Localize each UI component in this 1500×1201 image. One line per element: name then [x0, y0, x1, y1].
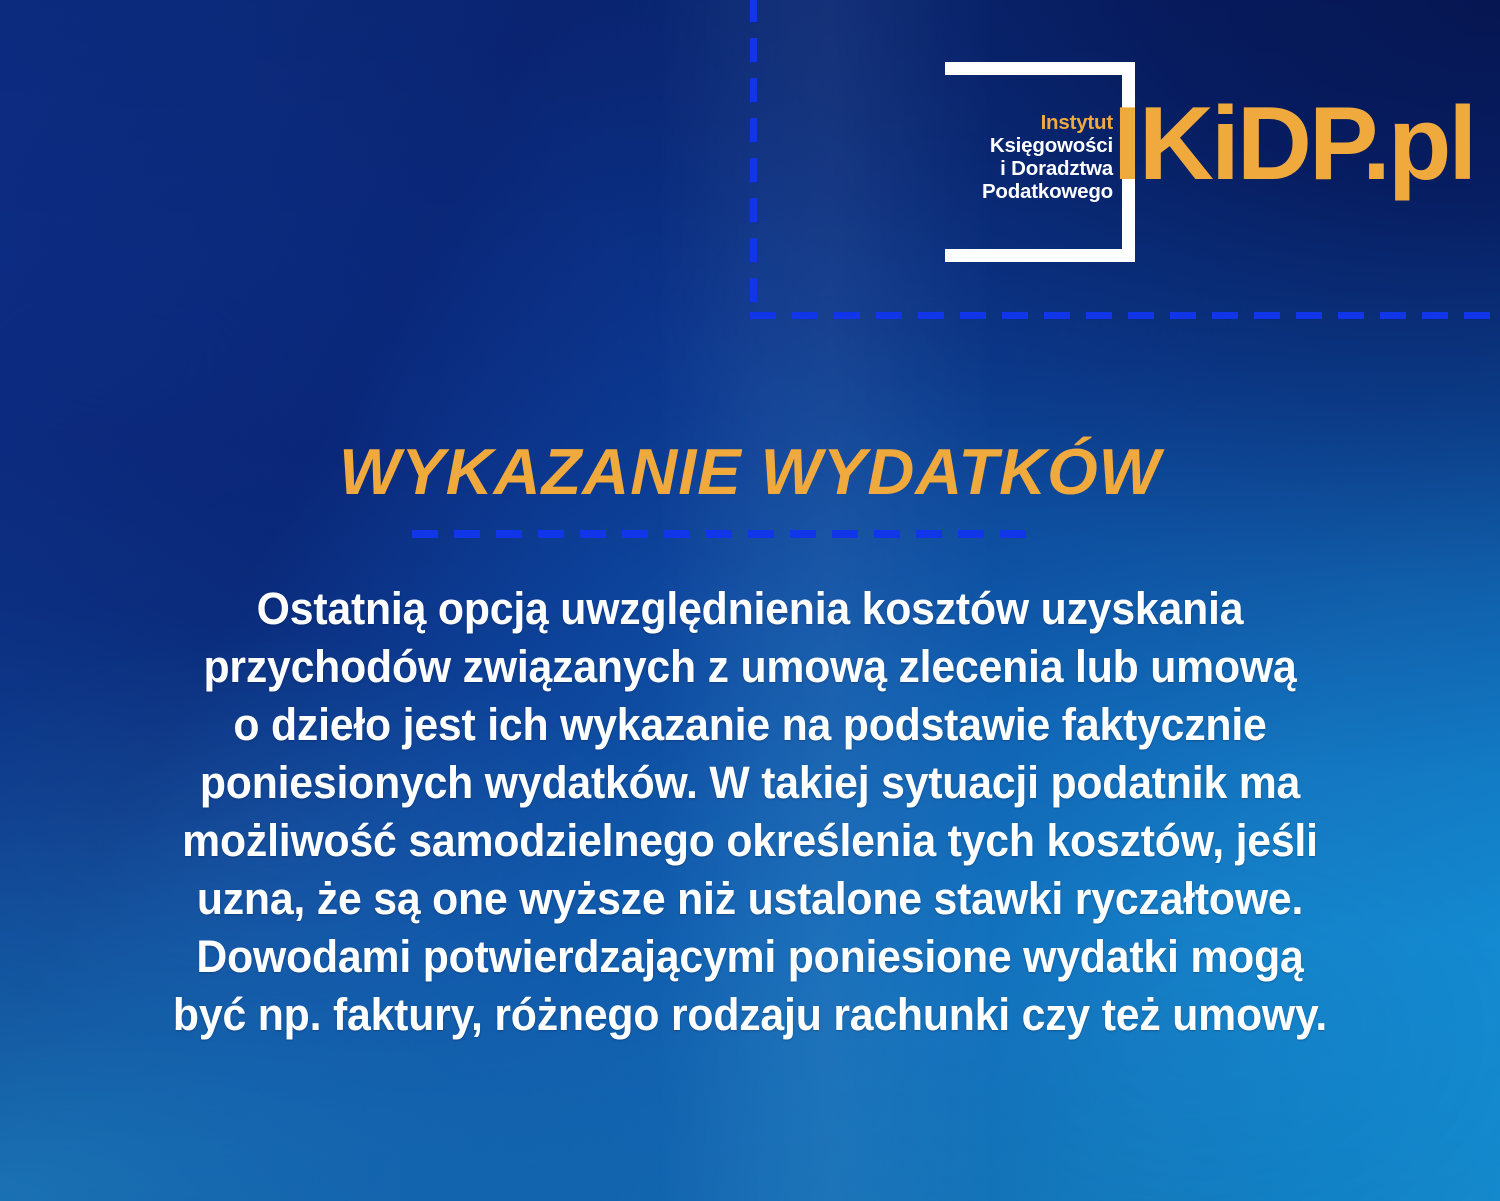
body-line: możliwość samodzielnego określenia tych … — [38, 812, 1463, 870]
ikidp-logo-bracket: Instytut Księgowości i Doradztwa Podatko… — [945, 62, 1135, 262]
logo-wordmark: IKiDP.pl — [1113, 92, 1474, 196]
logo-bracket-bottom-bar — [945, 249, 1135, 262]
body-line: poniesionych wydatków. W takiej sytuacji… — [38, 754, 1463, 812]
logo-line-4: Podatkowego — [982, 181, 1113, 204]
body-line: przychodów związanych z umową zlecenia l… — [38, 638, 1463, 696]
body-paragraph: Ostatnią opcją uwzględnienia kosztów uzy… — [38, 580, 1463, 1044]
poster-canvas: Instytut Księgowości i Doradztwa Podatko… — [0, 0, 1500, 1201]
logo-bracket-top-bar — [945, 62, 1135, 75]
body-line: uzna, że są one wyższe niż ustalone staw… — [38, 870, 1463, 928]
logo-line-3: i Doradztwa — [982, 158, 1113, 181]
body-line: o dzieło jest ich wykazanie na podstawie… — [38, 696, 1463, 754]
body-line: być np. faktury, różnego rodzaju rachunk… — [38, 986, 1463, 1044]
page-title: WYKAZANIE WYDATKÓW — [0, 434, 1500, 509]
body-line: Dowodami potwierdzającymi poniesione wyd… — [38, 928, 1463, 986]
logo-institution-name: Instytut Księgowości i Doradztwa Podatko… — [982, 112, 1113, 204]
dashed-frame-horizontal-line — [750, 312, 1500, 319]
body-line: Ostatnią opcją uwzględnienia kosztów uzy… — [38, 580, 1463, 638]
logo-line-2: Księgowości — [982, 135, 1113, 158]
logo-line-1: Instytut — [982, 112, 1113, 135]
dashed-frame-vertical-line — [750, 0, 757, 317]
title-dashed-underline — [412, 530, 1032, 538]
